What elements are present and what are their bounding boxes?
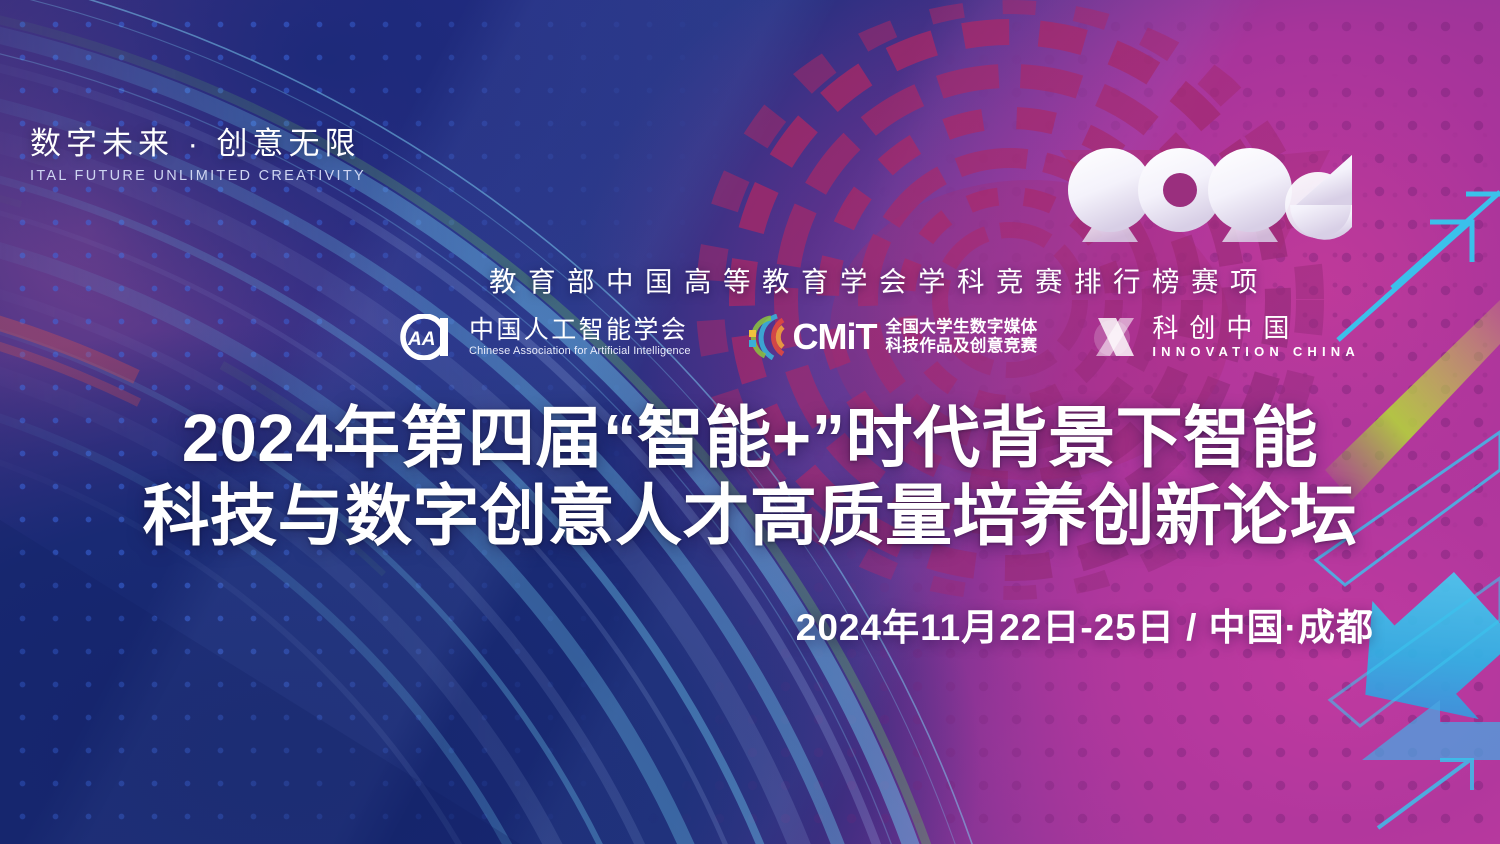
main-title: 2024年第四届“智能+”时代背景下智能 科技与数字创意人才高质量培养创新论坛	[0, 400, 1500, 555]
slogan-chinese: 数字未来 · 创意无限	[30, 118, 366, 163]
main-title-line1: 2024年第四届“智能+”时代背景下智能	[0, 400, 1500, 478]
cmit-wordmark: CMiT	[792, 319, 876, 355]
logo-cmit: CMiT 全国大学生数字媒体 科技作品及创意竞赛	[743, 311, 1037, 363]
logo-caai: AA 中国人工智能学会 Chinese Association for Arti…	[400, 311, 691, 363]
sponsor-logo-row: AA 中国人工智能学会 Chinese Association for Arti…	[400, 308, 1360, 366]
cmit-name-cn-line2: 科技作品及创意竞赛	[885, 337, 1037, 356]
cmit-name-cn-line1: 全国大学生数字媒体	[885, 318, 1037, 337]
date-location: 2024年11月22日-25日 / 中国·成都	[0, 597, 1374, 651]
cmit-name-cn: 全国大学生数字媒体 科技作品及创意竞赛	[885, 318, 1037, 356]
innovation-china-emblem-icon	[1090, 312, 1144, 362]
organizer-line: 教育部中国高等教育学会学科竞赛排行榜赛项	[404, 259, 1354, 299]
caai-name-cn: 中国人工智能学会	[469, 317, 691, 343]
cmit-emblem-icon	[743, 314, 791, 360]
slogan-block: 数字未来 · 创意无限 ITAL FUTURE UNLIMITED CREATI…	[30, 118, 366, 184]
svg-text:AA: AA	[407, 329, 435, 350]
innovation-china-name-cn: 科创中国	[1152, 315, 1360, 342]
main-title-line2: 科技与数字创意人才高质量培养创新论坛	[0, 478, 1500, 556]
slogan-english: ITAL FUTURE UNLIMITED CREATIVITY	[30, 168, 366, 184]
innovation-china-name-en: INNOVATION CHINA	[1152, 344, 1360, 359]
innovation-china-text: 科创中国 INNOVATION CHINA	[1152, 315, 1360, 358]
caai-name-en: Chinese Association for Artificial Intel…	[469, 345, 691, 357]
event-poster: 数字未来 · 创意无限 ITAL FUTURE UNLIMITED CREATI…	[0, 0, 1500, 844]
logo-innovation-china: 科创中国 INNOVATION CHINA	[1090, 311, 1360, 363]
caai-emblem-icon: AA	[400, 314, 462, 360]
caai-text: 中国人工智能学会 Chinese Association for Artific…	[469, 317, 691, 357]
